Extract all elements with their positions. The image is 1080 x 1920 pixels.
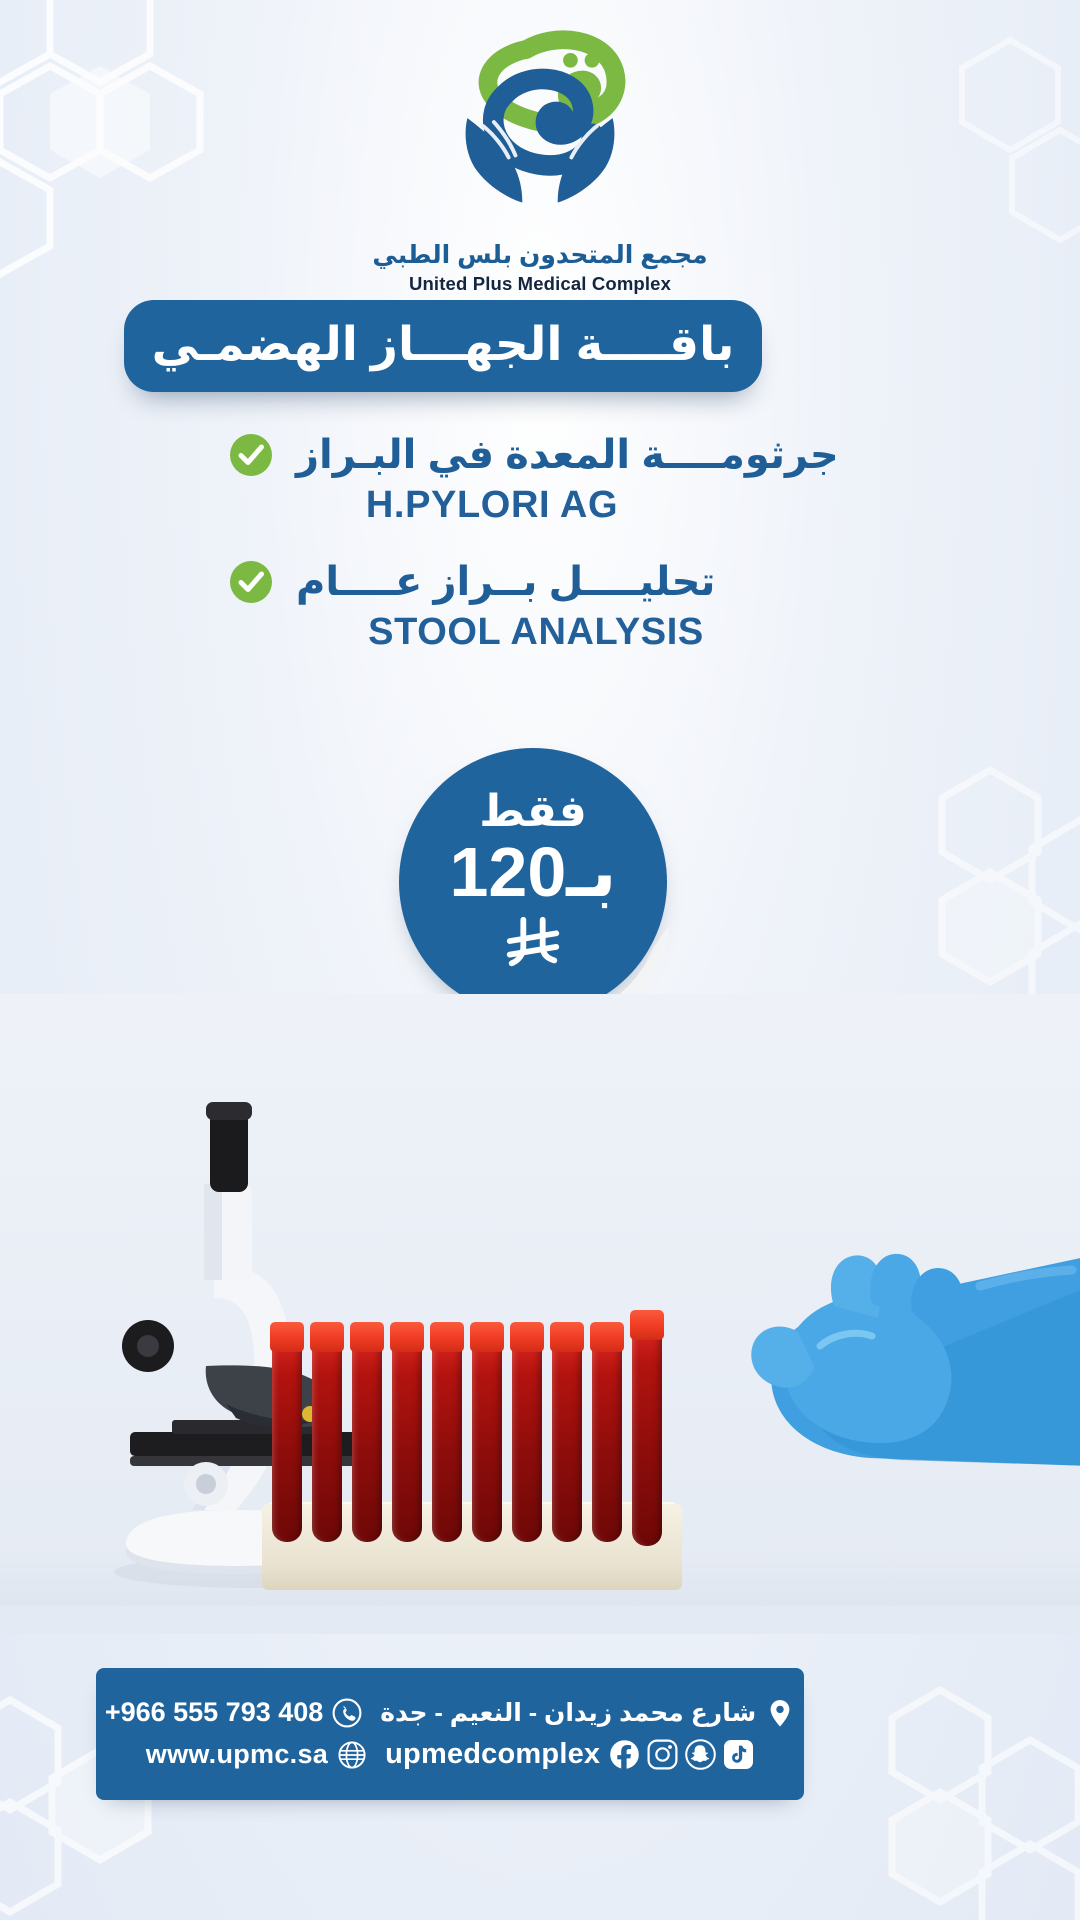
- blood-tube: [312, 1342, 342, 1542]
- blood-tube: [592, 1342, 622, 1542]
- blood-tube: [392, 1342, 422, 1542]
- blood-tube: [432, 1342, 462, 1542]
- tiktok-icon[interactable]: [723, 1739, 754, 1770]
- services-list: جرثومــــة المعدة في البـراز H.PYLORI AG…: [0, 432, 1080, 654]
- service-item: تحليــــل بــراز عــــام STOOL ANALYSIS: [0, 559, 1080, 654]
- social-handle: upmedcomplex: [385, 1738, 600, 1771]
- clinic-address: شارع محمد زيدان - النعيم - جدة: [380, 1698, 756, 1728]
- gloved-hand-image: [620, 1136, 1080, 1556]
- globe-icon[interactable]: [337, 1740, 367, 1770]
- location-pin-icon: [765, 1698, 795, 1728]
- website-url: www.upmc.sa: [146, 1739, 328, 1770]
- service-item: جرثومــــة المعدة في البـراز H.PYLORI AG: [0, 432, 1080, 527]
- blood-tube: [512, 1342, 542, 1542]
- service-name-arabic: تحليــــل بــراز عــــام: [296, 559, 715, 605]
- snapchat-icon[interactable]: [685, 1739, 716, 1770]
- brand-name-arabic: مجمع المتحدون بلس الطبي: [372, 240, 707, 270]
- tube-rack: [262, 1350, 682, 1590]
- service-name-arabic: جرثومــــة المعدة في البـراز: [296, 432, 839, 478]
- phone-item[interactable]: +966 555 793 408: [105, 1697, 362, 1728]
- blood-tube: [472, 1342, 502, 1542]
- contact-footer-bar: شارع محمد زيدان - النعيم - جدة +966 555 …: [96, 1668, 804, 1800]
- green-check-circle-icon: [230, 561, 272, 603]
- price-sticker: فقط بـ120: [399, 748, 667, 1016]
- brand-logo-block: مجمع المتحدون بلس الطبي United Plus Medi…: [0, 24, 1080, 295]
- instagram-icon[interactable]: [647, 1739, 678, 1770]
- poster-root: مجمع المتحدون بلس الطبي United Plus Medi…: [0, 0, 1080, 1920]
- service-name-english: STOOL ANALYSIS: [368, 611, 704, 654]
- contact-row-primary: شارع محمد زيدان - النعيم - جدة +966 555 …: [105, 1697, 795, 1728]
- hexagon-pattern-bottom-right: [830, 1680, 1080, 1920]
- social-icons-group[interactable]: [609, 1739, 754, 1770]
- contact-row-secondary: upmedcomplex www.upmc.sa: [146, 1738, 754, 1771]
- brand-name-english: United Plus Medical Complex: [409, 273, 671, 295]
- phone-icon[interactable]: [332, 1698, 362, 1728]
- saudi-riyal-symbol-icon: [502, 912, 564, 974]
- price-circle: فقط بـ120: [399, 748, 667, 1016]
- social-item[interactable]: upmedcomplex: [385, 1738, 754, 1771]
- blood-tube: [272, 1342, 302, 1542]
- price-amount: بـ120: [450, 836, 617, 910]
- page-title: باقــــة الجهـــاز الهضمـي: [152, 316, 735, 372]
- package-title-banner: باقــــة الجهـــاز الهضمـي: [124, 300, 762, 392]
- blood-tube: [552, 1342, 582, 1542]
- service-name-english: H.PYLORI AG: [366, 484, 618, 527]
- price-only-label: فقط: [479, 790, 587, 834]
- phone-number: +966 555 793 408: [105, 1697, 323, 1728]
- hands-holding-stomach-logo-icon: [432, 24, 648, 230]
- blood-tube: [352, 1342, 382, 1542]
- green-check-circle-icon: [230, 434, 272, 476]
- facebook-icon[interactable]: [609, 1739, 640, 1770]
- laboratory-photo: [0, 994, 1080, 1634]
- website-item[interactable]: www.upmc.sa: [146, 1739, 367, 1770]
- address-item: شارع محمد زيدان - النعيم - جدة: [380, 1698, 795, 1728]
